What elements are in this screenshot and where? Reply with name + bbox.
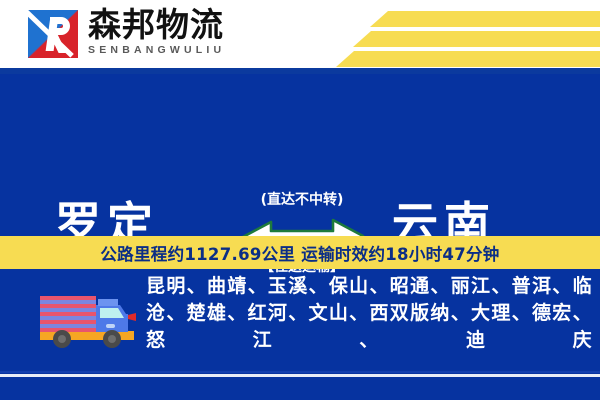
brand-name-en: SENBANGWULIU: [88, 43, 288, 57]
footer-rule-light: [0, 374, 600, 377]
header-diagonal-stripes: [300, 0, 600, 68]
distance-info-bar: 公路里程约1127.69公里 运输时效约18小时47分钟: [0, 236, 600, 269]
senbang-logo-icon: [28, 10, 78, 58]
footer-rule-blue: [0, 371, 600, 373]
coverage-section: 昆明、曲靖、玉溪、保山、昭通、丽江、普洱、临沧、楚雄、红河、文山、西双版纳、大理…: [0, 269, 600, 375]
header-bar: 森邦物流 SENBANGWULIU: [0, 0, 600, 68]
route-note-direct: (直达不中转): [228, 192, 376, 209]
brand-name-block: 森邦物流 SENBANGWULIU: [88, 7, 288, 61]
coverage-cities-text: 昆明、曲靖、玉溪、保山、昭通、丽江、普洱、临沧、楚雄、红河、文山、西双版纳、大理…: [146, 273, 592, 354]
brand-name-cn: 森邦物流: [88, 7, 288, 43]
logistics-route-poster: 森邦物流 SENBANGWULIU 罗定 (直达不中转) 【往返运输】 云南 公…: [0, 0, 600, 400]
delivery-truck-icon: [36, 287, 142, 349]
route-section: 罗定 (直达不中转) 【往返运输】 云南: [0, 74, 600, 236]
distance-info-text: 公路里程约1127.69公里 运输时效约18小时47分钟: [100, 241, 499, 265]
